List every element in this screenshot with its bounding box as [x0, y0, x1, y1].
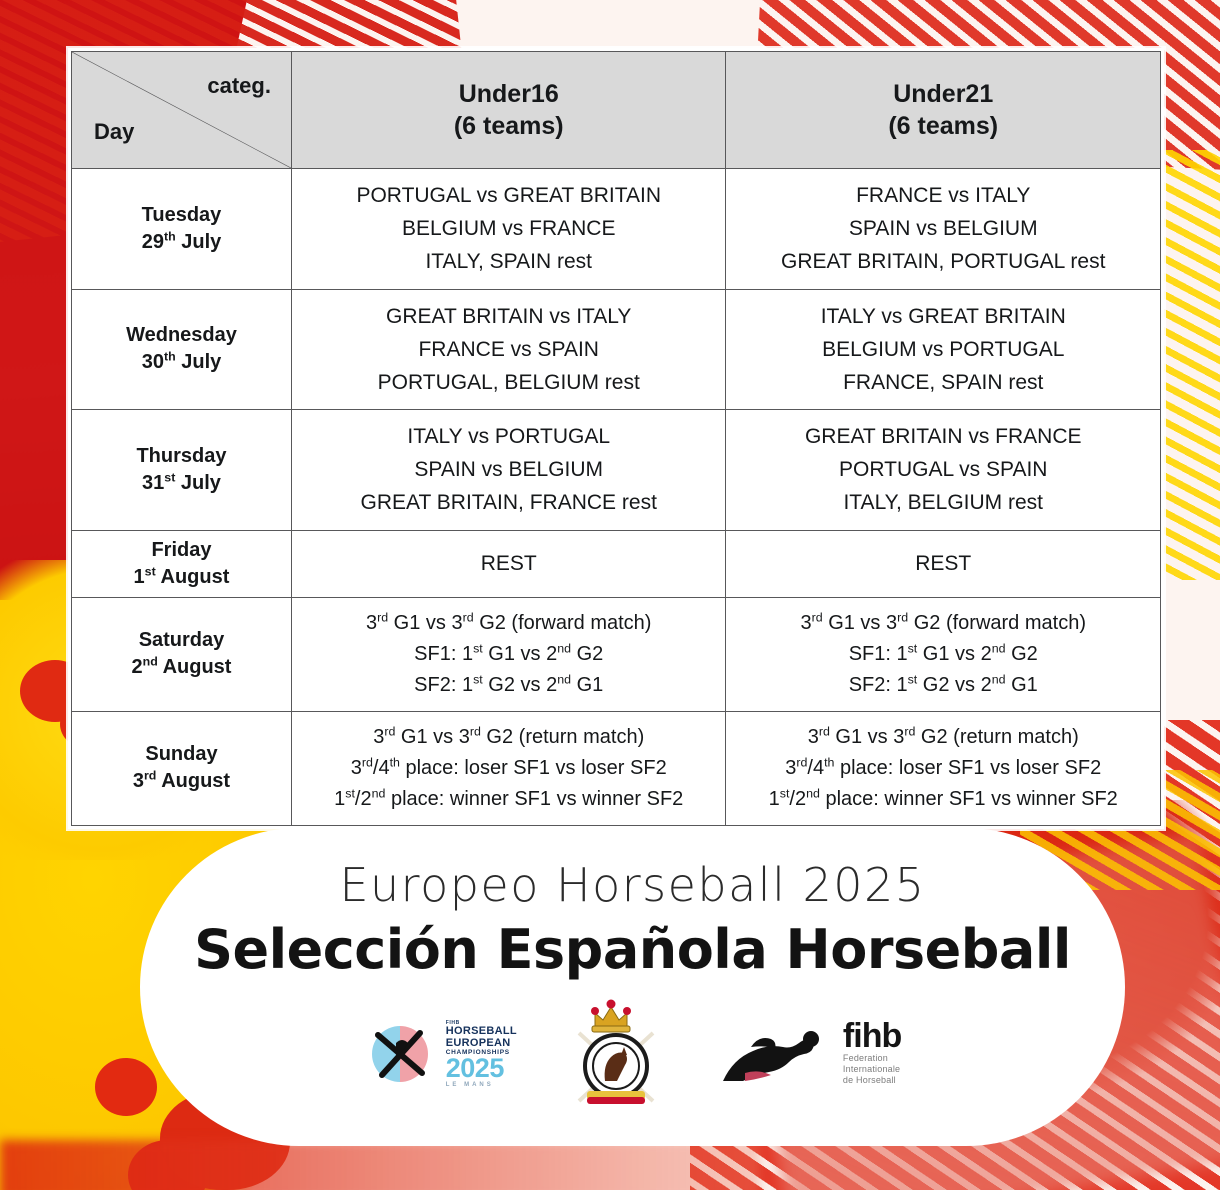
- match-line: 3rd/4th place: loser SF1 vs loser SF2: [298, 753, 720, 784]
- match-line: SF2: 1st G2 vs 2nd G1: [732, 670, 1154, 701]
- diagonal-divider-icon: [72, 52, 291, 168]
- schedule-table-container: categ. Day Under16 (6 teams) Under21 (6 …: [68, 48, 1164, 829]
- match-line: GREAT BRITAIN, FRANCE rest: [298, 486, 720, 519]
- day-name: Sunday: [76, 741, 287, 768]
- table-row: Friday1st AugustRESTREST: [72, 530, 1161, 597]
- match-line: SF1: 1st G1 vs 2nd G2: [732, 639, 1154, 670]
- day-date: 1st August: [76, 564, 287, 591]
- ecc-place: LE MANS: [446, 1082, 494, 1088]
- day-name: Thursday: [76, 443, 287, 470]
- match-line: REST: [732, 552, 1154, 576]
- day-name: Tuesday: [76, 202, 287, 229]
- match-line: BELGIUM vs FRANCE: [298, 212, 720, 245]
- match-line: 1st/2nd place: winner SF1 vs winner SF2: [732, 784, 1154, 815]
- red-wash-bottom: [0, 1140, 760, 1190]
- match-line: PORTUGAL vs GREAT BRITAIN: [298, 179, 720, 212]
- table-row: Wednesday30th JulyGREAT BRITAIN vs ITALY…: [72, 289, 1161, 410]
- match-cell-under16: PORTUGAL vs GREAT BRITAINBELGIUM vs FRAN…: [291, 169, 726, 290]
- corner-category-label: categ.: [207, 72, 271, 100]
- match-cell-under21: GREAT BRITAIN vs FRANCEPORTUGAL vs SPAIN…: [726, 410, 1161, 531]
- rest-cell: REST: [726, 530, 1161, 597]
- under21-title: Under21: [726, 78, 1160, 110]
- fihb-sub-1: Federation: [843, 1053, 888, 1064]
- match-line: GREAT BRITAIN, PORTUGAL rest: [732, 245, 1154, 278]
- rest-cell: REST: [291, 530, 726, 597]
- table-header-row: categ. Day Under16 (6 teams) Under21 (6 …: [72, 52, 1161, 169]
- day-cell: Thursday31st July: [72, 410, 292, 531]
- match-line: ITALY vs GREAT BRITAIN: [732, 300, 1154, 333]
- ecc-line-1: HORSEBALL: [446, 1026, 517, 1037]
- column-header-under21: Under21 (6 teams): [726, 52, 1161, 169]
- match-line: BELGIUM vs PORTUGAL: [732, 333, 1154, 366]
- event-title: Europeo Horseball 2025: [339, 858, 925, 912]
- day-date: 2nd August: [76, 654, 287, 681]
- match-line: FRANCE vs SPAIN: [298, 333, 720, 366]
- match-line: 3rd G1 vs 3rd G2 (forward match): [298, 608, 720, 639]
- under16-title: Under16: [292, 78, 726, 110]
- match-cell-under21: FRANCE vs ITALYSPAIN vs BELGIUMGREAT BRI…: [726, 169, 1161, 290]
- day-name: Friday: [76, 537, 287, 564]
- schedule-table: categ. Day Under16 (6 teams) Under21 (6 …: [71, 51, 1161, 826]
- match-line: GREAT BRITAIN vs FRANCE: [732, 420, 1154, 453]
- day-date: 30th July: [76, 349, 287, 376]
- match-line: PORTUGAL, BELGIUM rest: [298, 366, 720, 399]
- ecc-year: 2025: [446, 1056, 504, 1082]
- table-row: Tuesday29th JulyPORTUGAL vs GREAT BRITAI…: [72, 169, 1161, 290]
- fihb-sub-2: Internationale: [843, 1064, 900, 1075]
- match-line: ITALY, SPAIN rest: [298, 245, 720, 278]
- day-cell: Friday1st August: [72, 530, 292, 597]
- title-card: Europeo Horseball 2025 Selección Español…: [140, 828, 1125, 1146]
- match-line: 1st/2nd place: winner SF1 vs winner SF2: [298, 784, 720, 815]
- match-line: SF1: 1st G1 vs 2nd G2: [298, 639, 720, 670]
- rfhe-crest-icon: [565, 993, 669, 1115]
- match-line: FRANCE, SPAIN rest: [732, 366, 1154, 399]
- day-date: 3rd August: [76, 768, 287, 795]
- table-row: Sunday3rd August3rd G1 vs 3rd G2 (return…: [72, 711, 1161, 825]
- day-cell: Wednesday30th July: [72, 289, 292, 410]
- ecc-line-2: EUROPEAN: [446, 1038, 511, 1049]
- match-cell-under16: 3rd G1 vs 3rd G2 (forward match)SF1: 1st…: [291, 597, 726, 711]
- match-line: REST: [298, 552, 720, 576]
- under21-teams: (6 teams): [726, 110, 1160, 142]
- match-line: SF2: 1st G2 vs 2nd G1: [298, 670, 720, 701]
- fihb-logo: fihb Federation Internationale de Horseb…: [717, 1017, 901, 1091]
- fihb-sub-3: de Horseball: [843, 1075, 896, 1086]
- crown-icon: [591, 1000, 631, 1033]
- match-line: 3rd G1 vs 3rd G2 (forward match): [732, 608, 1154, 639]
- logo-row: FIHB HORSEBALL EUROPEAN CHAMPIONSHIPS 20…: [364, 993, 901, 1115]
- match-line: SPAIN vs BELGIUM: [732, 212, 1154, 245]
- match-line: FRANCE vs ITALY: [732, 179, 1154, 212]
- table-row: Thursday31st JulyITALY vs PORTUGALSPAIN …: [72, 410, 1161, 531]
- column-header-under16: Under16 (6 teams): [291, 52, 726, 169]
- day-date: 29th July: [76, 229, 287, 256]
- championship-emblem-icon: [364, 1019, 442, 1089]
- table-body: Tuesday29th JulyPORTUGAL vs GREAT BRITAI…: [72, 169, 1161, 826]
- day-cell: Saturday2nd August: [72, 597, 292, 711]
- horseball-european-championships-logo: FIHB HORSEBALL EUROPEAN CHAMPIONSHIPS 20…: [364, 1019, 517, 1089]
- match-line: PORTUGAL vs SPAIN: [732, 453, 1154, 486]
- day-cell: Sunday3rd August: [72, 711, 292, 825]
- match-line: 3rd/4th place: loser SF1 vs loser SF2: [732, 753, 1154, 784]
- fihb-rider-icon: [717, 1017, 835, 1091]
- match-cell-under21: 3rd G1 vs 3rd G2 (forward match)SF1: 1st…: [726, 597, 1161, 711]
- match-line: 3rd G1 vs 3rd G2 (return match): [732, 722, 1154, 753]
- day-name: Saturday: [76, 627, 287, 654]
- match-line: ITALY vs PORTUGAL: [298, 420, 720, 453]
- match-cell-under21: ITALY vs GREAT BRITAINBELGIUM vs PORTUGA…: [726, 289, 1161, 410]
- red-dot: [95, 1058, 157, 1116]
- corner-header-cell: categ. Day: [72, 52, 292, 169]
- match-cell-under16: 3rd G1 vs 3rd G2 (return match)3rd/4th p…: [291, 711, 726, 825]
- federacion-hipica-espanola-logo: [565, 993, 669, 1115]
- match-cell-under16: ITALY vs PORTUGALSPAIN vs BELGIUMGREAT B…: [291, 410, 726, 531]
- match-cell-under16: GREAT BRITAIN vs ITALYFRANCE vs SPAINPOR…: [291, 289, 726, 410]
- day-name: Wednesday: [76, 322, 287, 349]
- under16-teams: (6 teams): [292, 110, 726, 142]
- match-line: 3rd G1 vs 3rd G2 (return match): [298, 722, 720, 753]
- day-cell: Tuesday29th July: [72, 169, 292, 290]
- match-line: SPAIN vs BELGIUM: [298, 453, 720, 486]
- corner-day-label: Day: [94, 118, 134, 146]
- day-date: 31st July: [76, 470, 287, 497]
- match-line: GREAT BRITAIN vs ITALY: [298, 300, 720, 333]
- match-cell-under21: 3rd G1 vs 3rd G2 (return match)3rd/4th p…: [726, 711, 1161, 825]
- table-row: Saturday2nd August3rd G1 vs 3rd G2 (forw…: [72, 597, 1161, 711]
- team-title: Selección Española Horseball: [194, 918, 1071, 981]
- fihb-name: fihb: [843, 1021, 901, 1052]
- match-line: ITALY, BELGIUM rest: [732, 486, 1154, 519]
